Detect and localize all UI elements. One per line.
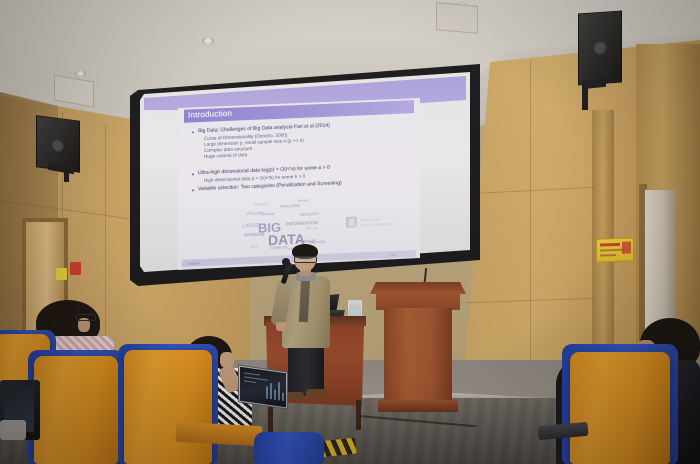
podium-body xyxy=(384,308,452,404)
presenter-shoe xyxy=(306,389,326,397)
presentation-photo: Introduction Big Data: Challenges of Big… xyxy=(0,0,700,464)
slide-footer-left: Speaker xyxy=(188,261,200,265)
ceiling-downlight xyxy=(202,37,214,45)
table-leg xyxy=(356,400,361,430)
wall-speaker-left xyxy=(36,115,80,172)
podium-base xyxy=(378,400,458,412)
word-cloud-term: PROCESS xyxy=(310,240,326,245)
word-cloud-term: VARIETY xyxy=(254,202,269,207)
wall-seam xyxy=(530,60,531,410)
logo-text-line2: BAPTIST UNIVERSITY xyxy=(360,221,395,226)
seat-trim xyxy=(254,432,324,464)
slide-footer-right: 1 / 24 xyxy=(388,253,396,257)
ceiling-downlight xyxy=(75,70,86,77)
bullet-marker xyxy=(192,131,194,133)
word-cloud-term: VELOCITY xyxy=(300,212,319,217)
wall-speaker-right xyxy=(578,10,622,85)
sign-caution-notice-yellow xyxy=(596,237,634,262)
seat-back[interactable] xyxy=(124,350,212,464)
seat-back[interactable] xyxy=(34,356,118,464)
sign-caution-notice xyxy=(56,268,67,280)
audience-member-left-glasses xyxy=(76,314,96,321)
ceiling-vent xyxy=(436,2,478,34)
presenter-glasses xyxy=(294,256,317,263)
word-cloud-term: LARGE xyxy=(242,223,260,230)
sign-safety-notice xyxy=(70,262,81,275)
presenter-hand xyxy=(276,322,287,331)
microphone-head xyxy=(282,258,290,266)
equipment-item xyxy=(0,420,26,440)
speaker-bracket-left xyxy=(64,168,69,182)
bullet-marker xyxy=(192,173,194,175)
word-cloud-term: ANALYSIS xyxy=(280,203,300,209)
logo-mark-icon xyxy=(346,216,357,227)
seat-back[interactable] xyxy=(570,352,670,464)
tablet-screen xyxy=(240,367,286,407)
word-cloud-term: CLOUD xyxy=(262,212,274,217)
bullet-marker xyxy=(192,189,194,191)
word-cloud-term: VALUE xyxy=(306,226,317,230)
slide-subbullet: Huge volume of data xyxy=(204,152,247,160)
word-cloud-term: DATABASE xyxy=(244,232,265,237)
slide-title: Introduction xyxy=(188,108,232,119)
word-cloud-term: SETS xyxy=(250,245,258,249)
hkbu-logo: HONG KONG BAPTIST UNIVERSITY xyxy=(346,215,396,229)
speaker-bracket-right xyxy=(582,84,588,110)
word-cloud-term: MINING xyxy=(298,198,310,202)
tablet[interactable] xyxy=(238,364,288,409)
